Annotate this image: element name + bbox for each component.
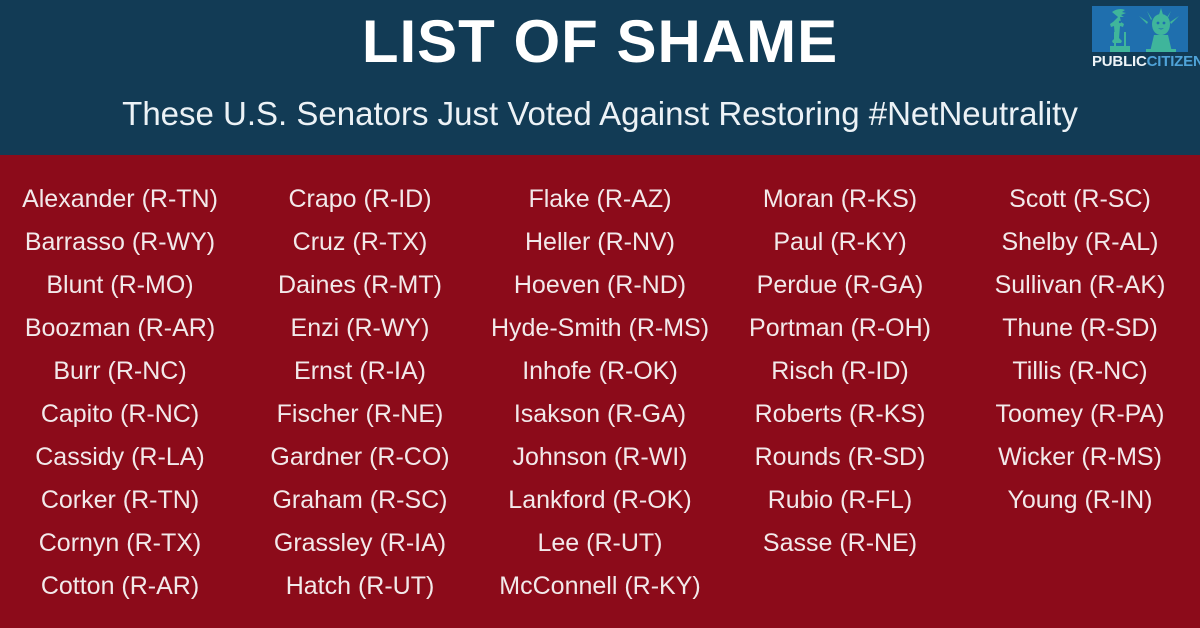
senator-name: Crapo (R-ID) [240, 177, 480, 220]
logo-word-citizen: CITIZEN [1147, 53, 1200, 70]
senator-name: Tillis (R-NC) [960, 349, 1200, 392]
senator-name: Inhofe (R-OK) [480, 349, 720, 392]
senator-name: Graham (R-SC) [240, 478, 480, 521]
logo-word-public: PUBLIC [1092, 53, 1147, 70]
senator-name: Shelby (R-AL) [960, 220, 1200, 263]
senator-name: Blunt (R-MO) [0, 263, 240, 306]
senator-name-grid: Alexander (R-TN)Crapo (R-ID)Flake (R-AZ)… [0, 155, 1200, 628]
senator-name: Ernst (R-IA) [240, 349, 480, 392]
senator-name: Roberts (R-KS) [720, 392, 960, 435]
list-of-shame-poster: LIST OF SHAME These U.S. Senators Just V… [0, 0, 1200, 628]
senator-name: Boozman (R-AR) [0, 306, 240, 349]
senator-name: Rounds (R-SD) [720, 435, 960, 478]
senator-name: Alexander (R-TN) [0, 177, 240, 220]
senator-name: McConnell (R-KY) [480, 564, 720, 607]
senator-name: Wicker (R-MS) [960, 435, 1200, 478]
senator-name: Moran (R-KS) [720, 177, 960, 220]
senator-name: Cornyn (R-TX) [0, 521, 240, 564]
senator-name: Portman (R-OH) [720, 306, 960, 349]
senator-name: Perdue (R-GA) [720, 263, 960, 306]
senator-name: Isakson (R-GA) [480, 392, 720, 435]
senator-name: Hoeven (R-ND) [480, 263, 720, 306]
senator-name: Sullivan (R-AK) [960, 263, 1200, 306]
senator-name: Grassley (R-IA) [240, 521, 480, 564]
page-title: LIST OF SHAME [0, 6, 1200, 78]
senator-name: Fischer (R-NE) [240, 392, 480, 435]
senator-name: Lee (R-UT) [480, 521, 720, 564]
senator-name: Burr (R-NC) [0, 349, 240, 392]
senator-name: Hyde-Smith (R-MS) [480, 306, 720, 349]
senator-name: Hatch (R-UT) [240, 564, 480, 607]
statue-of-liberty-icon [1092, 6, 1188, 52]
poster-header: LIST OF SHAME These U.S. Senators Just V… [0, 0, 1200, 155]
senator-name: Risch (R-ID) [720, 349, 960, 392]
senator-name: Corker (R-TN) [0, 478, 240, 521]
page-subtitle: These U.S. Senators Just Voted Against R… [0, 92, 1200, 136]
senator-name: Paul (R-KY) [720, 220, 960, 263]
senator-name: Young (R-IN) [960, 478, 1200, 521]
senator-name: Capito (R-NC) [0, 392, 240, 435]
senator-name: Flake (R-AZ) [480, 177, 720, 220]
senator-name: Cotton (R-AR) [0, 564, 240, 607]
senator-name: Barrasso (R-WY) [0, 220, 240, 263]
senator-name: Thune (R-SD) [960, 306, 1200, 349]
senator-name: Gardner (R-CO) [240, 435, 480, 478]
senator-name: Sasse (R-NE) [720, 521, 960, 564]
senator-name: Heller (R-NV) [480, 220, 720, 263]
senator-name: Scott (R-SC) [960, 177, 1200, 220]
senator-name: Rubio (R-FL) [720, 478, 960, 521]
senator-name: Cruz (R-TX) [240, 220, 480, 263]
senator-name: Johnson (R-WI) [480, 435, 720, 478]
senator-name: Toomey (R-PA) [960, 392, 1200, 435]
senator-name: Daines (R-MT) [240, 263, 480, 306]
public-citizen-logo: PUBLICCITIZEN [1076, 6, 1188, 76]
senator-name: Enzi (R-WY) [240, 306, 480, 349]
logo-wordmark: PUBLICCITIZEN [1092, 53, 1188, 71]
senator-name: Cassidy (R-LA) [0, 435, 240, 478]
senator-name: Lankford (R-OK) [480, 478, 720, 521]
